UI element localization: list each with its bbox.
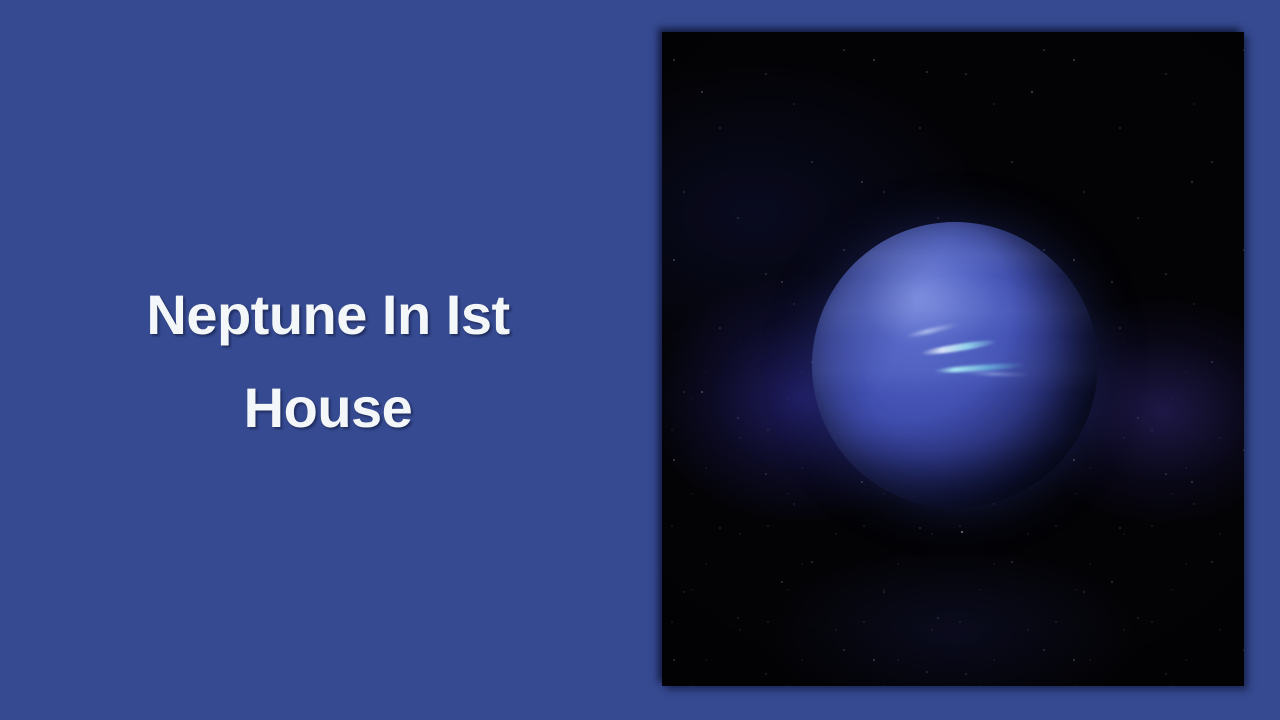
photo-vignette [662,32,1244,686]
neptune-photo [662,32,1244,686]
slide-canvas: Neptune In Ist House [0,0,1280,720]
title-line-1: Neptune In Ist [96,268,560,361]
slide-title: Neptune In Ist House [96,268,560,454]
title-line-2: House [96,361,560,454]
